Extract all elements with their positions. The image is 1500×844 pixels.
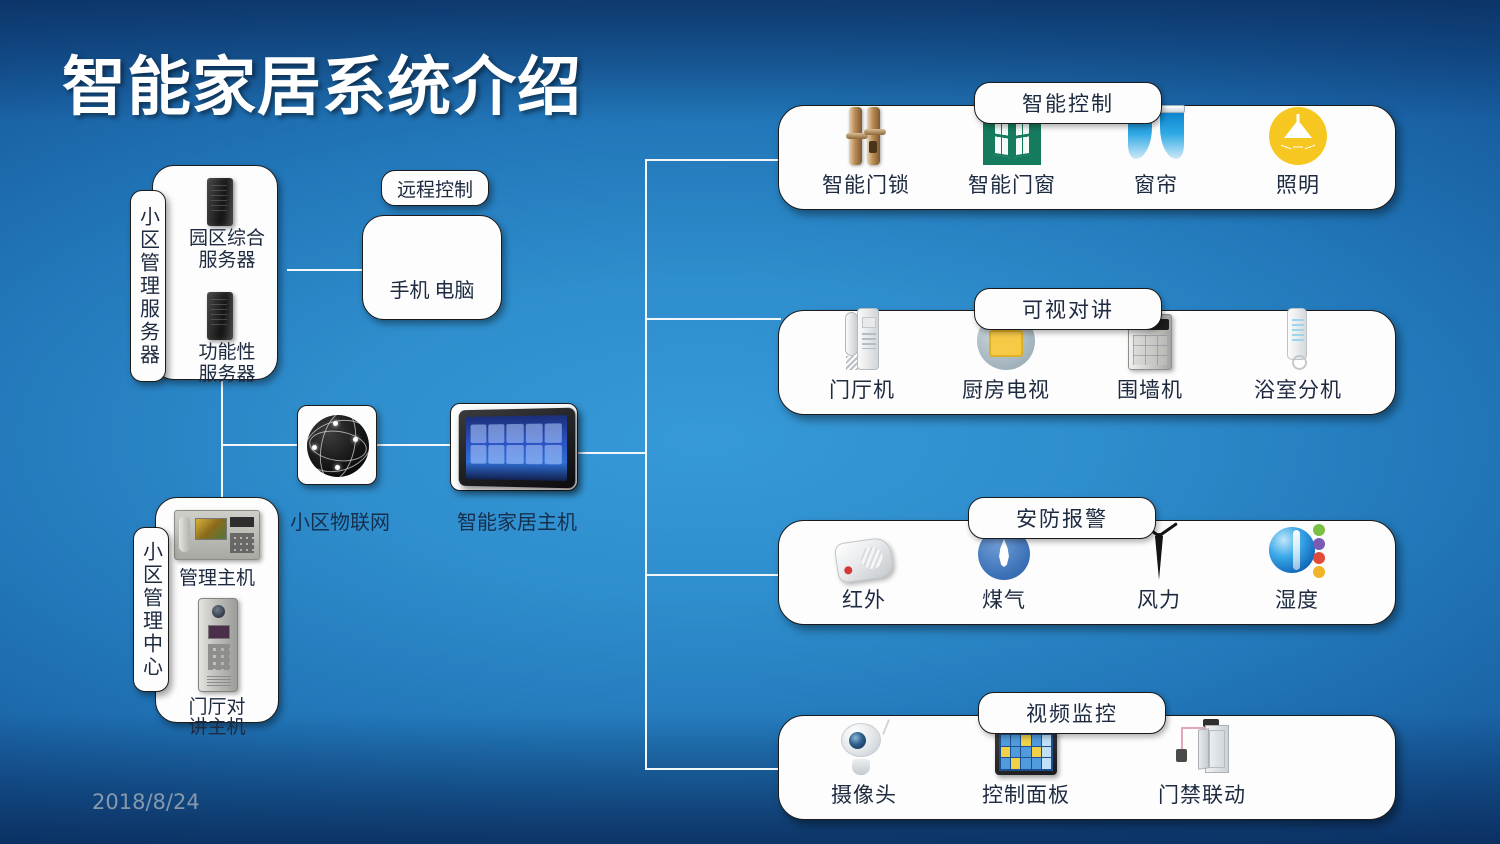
server-icon xyxy=(207,178,233,226)
camera-icon xyxy=(837,711,891,775)
lobby-phone-icon xyxy=(845,306,879,370)
group-item-label: 风力 xyxy=(1137,584,1181,614)
group-item-label: 智能门锁 xyxy=(822,169,910,199)
group-item-bathroom-extension[interactable]: 浴室分机 xyxy=(1223,306,1373,404)
connector-branch-3 xyxy=(645,574,781,576)
group-title-security-alarm[interactable]: 安防报警 xyxy=(968,497,1156,539)
iot-node-box[interactable] xyxy=(297,405,377,485)
remote-devices-label: 手机 电脑 xyxy=(363,280,501,303)
group-item-label: 窗帘 xyxy=(1134,169,1178,199)
iot-node-label: 小区物联网 xyxy=(285,506,395,535)
group-item-label: 控制面板 xyxy=(982,779,1070,809)
connector-trunk xyxy=(645,159,647,769)
connector-server-to-iot xyxy=(222,444,300,446)
tablet-icon xyxy=(459,408,576,489)
group-item-label: 湿度 xyxy=(1275,584,1319,614)
smart-home-hub-box[interactable] xyxy=(450,403,578,491)
remote-devices-box[interactable]: 手机 电脑 xyxy=(362,215,502,320)
connector-center-up xyxy=(221,444,223,500)
group-item-label: 煤气 xyxy=(982,584,1026,614)
group-item-humidity[interactable]: 湿度 xyxy=(1222,516,1372,614)
group-item-infrared[interactable]: 红外 xyxy=(789,516,939,614)
group-item-label: 浴室分机 xyxy=(1254,374,1342,404)
community-center-vertical-label: 小区管理中心 xyxy=(133,527,169,692)
date-stamp: 2018/8/24 xyxy=(92,790,200,814)
connector-hub-to-trunk xyxy=(578,452,646,454)
door-lock-icon xyxy=(846,101,886,165)
server-box-item-1-label: 功能性 服务器 xyxy=(175,342,279,386)
group-item-label: 照明 xyxy=(1276,169,1320,199)
lighting-icon xyxy=(1269,101,1327,165)
group-title-smart-control[interactable]: 智能控制 xyxy=(974,82,1162,124)
group-item-label: 围墙机 xyxy=(1117,374,1183,404)
center-box-item-1-label: 门厅对 讲主机 xyxy=(156,698,278,738)
group-item-label: 摄像头 xyxy=(831,779,897,809)
group-item-label: 厨房电视 xyxy=(962,374,1050,404)
management-host-icon xyxy=(174,510,260,560)
globe-icon xyxy=(307,415,369,477)
group-item-lighting[interactable]: 照明 xyxy=(1223,101,1373,199)
slide-canvas: 智能家居系统介绍 2018/8/24 园区综合 服务器 功能性 服务器 小区管理… xyxy=(0,0,1500,844)
group-item-label: 门禁联动 xyxy=(1158,779,1246,809)
remote-control-title: 远程控制 xyxy=(397,175,473,202)
community-server-vertical-label: 小区管理服务器 xyxy=(130,190,166,382)
bathroom-extension-icon xyxy=(1285,306,1311,370)
connector-branch-2 xyxy=(645,318,781,320)
smart-home-hub-label: 智能家居主机 xyxy=(452,506,582,535)
connector-server-to-remote xyxy=(287,269,363,271)
infrared-sensor-icon xyxy=(836,516,892,580)
connector-server-down xyxy=(221,381,223,445)
server-box-item-0-label: 园区综合 服务器 xyxy=(175,228,279,272)
group-item-label: 红外 xyxy=(842,584,886,614)
community-center-box[interactable]: 管理主机 门厅对 讲主机 xyxy=(155,497,279,723)
community-server-box[interactable]: 园区综合 服务器 功能性 服务器 xyxy=(152,165,278,380)
server-icon xyxy=(207,292,233,340)
connector-iot-to-hub xyxy=(377,444,451,446)
group-item-door-lock[interactable]: 智能门锁 xyxy=(791,101,941,199)
remote-control-title-box[interactable]: 远程控制 xyxy=(381,170,489,206)
group-item-label: 智能门窗 xyxy=(968,169,1056,199)
page-title: 智能家居系统介绍 xyxy=(62,36,582,128)
group-item-camera[interactable]: 摄像头 xyxy=(789,711,939,809)
access-control-icon xyxy=(1173,711,1231,775)
connector-branch-1 xyxy=(645,159,781,161)
group-title-video-surveillance[interactable]: 视频监控 xyxy=(978,692,1166,734)
center-box-item-0-label: 管理主机 xyxy=(156,568,278,590)
humidity-sensor-icon xyxy=(1269,516,1325,580)
group-title-video-intercom[interactable]: 可视对讲 xyxy=(974,288,1162,330)
connector-branch-4 xyxy=(645,768,781,770)
group-item-lobby-phone[interactable]: 门厅机 xyxy=(787,306,937,404)
door-station-icon xyxy=(198,598,238,692)
group-item-label: 门厅机 xyxy=(829,374,895,404)
